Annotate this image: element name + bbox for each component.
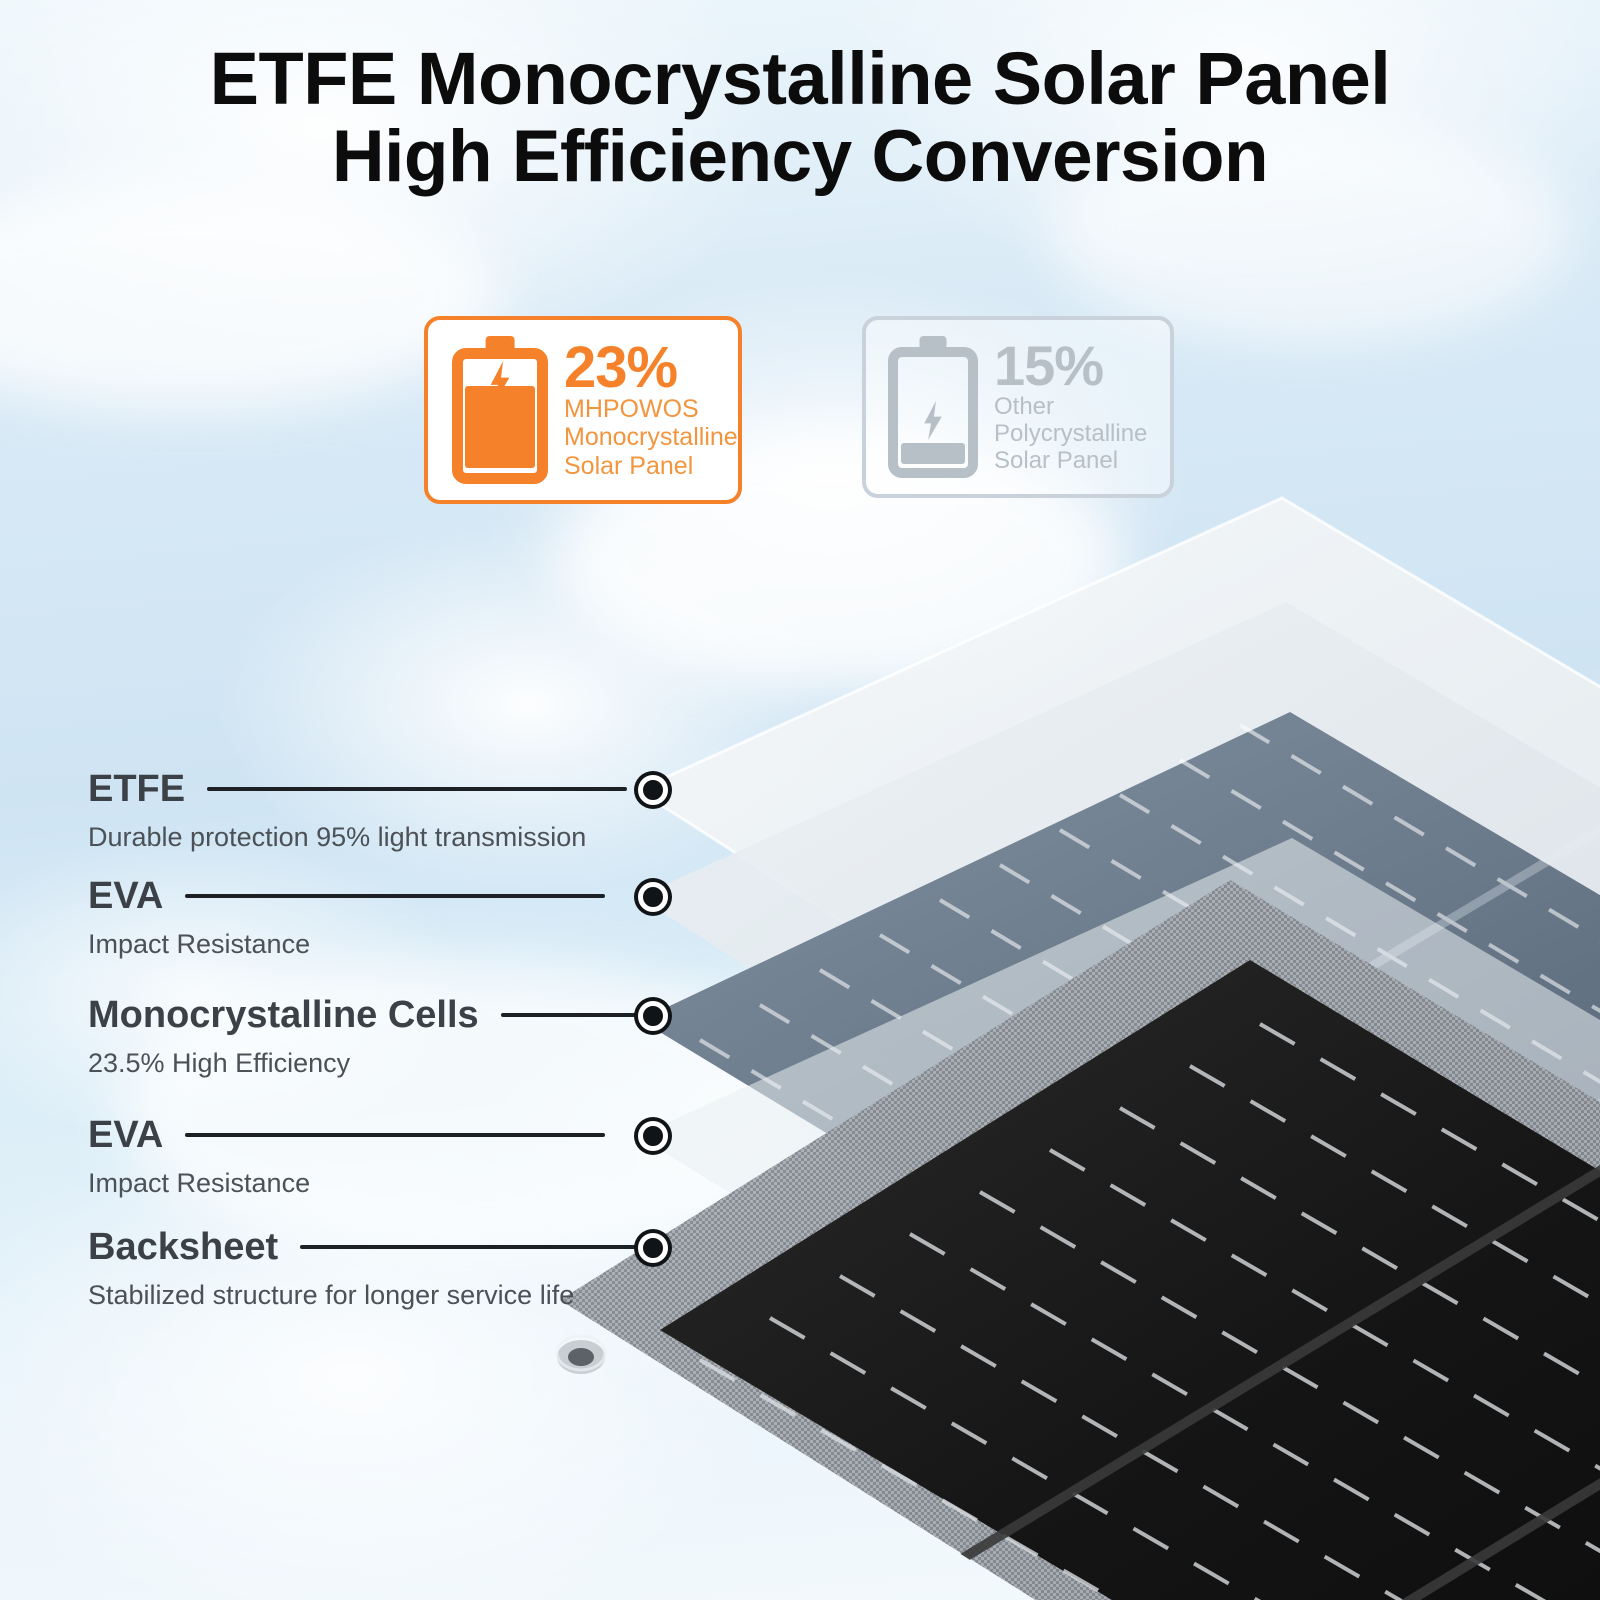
layer-description: Stabilized structure for longer service … — [88, 1280, 650, 1311]
layer-label: Monocrystalline Cells — [88, 996, 479, 1034]
infographic-canvas: ETFE Monocrystalline Solar Panel High Ef… — [0, 0, 1600, 1600]
layer-callout: BacksheetStabilized structure for longer… — [88, 1228, 650, 1311]
leader-line — [185, 894, 605, 898]
layer-callout: EVAImpact Resistance — [88, 1116, 605, 1199]
layer-callout: ETFEDurable protection 95% light transmi… — [88, 770, 627, 853]
layer-callout: EVAImpact Resistance — [88, 877, 605, 960]
leader-line — [207, 787, 627, 791]
callout-marker-dot — [638, 1121, 668, 1151]
layer-label: EVA — [88, 1116, 163, 1154]
callout-marker-dot — [638, 882, 668, 912]
layer-description: Impact Resistance — [88, 1168, 605, 1199]
callout-marker-dot — [638, 1233, 668, 1263]
layer-description: Impact Resistance — [88, 929, 605, 960]
callout-marker-dot — [638, 1001, 668, 1031]
callout-marker-dot — [638, 775, 668, 805]
layer-label: ETFE — [88, 770, 185, 808]
layer-callout: Monocrystalline Cells23.5% High Efficien… — [88, 996, 671, 1079]
layer-description: 23.5% High Efficiency — [88, 1048, 671, 1079]
layer-description: Durable protection 95% light transmissio… — [88, 822, 627, 853]
layer-label: Backsheet — [88, 1228, 278, 1266]
leader-line — [300, 1245, 650, 1249]
layer-label: EVA — [88, 877, 163, 915]
grommet-eyelet-icon — [557, 1336, 605, 1374]
leader-line — [185, 1133, 605, 1137]
